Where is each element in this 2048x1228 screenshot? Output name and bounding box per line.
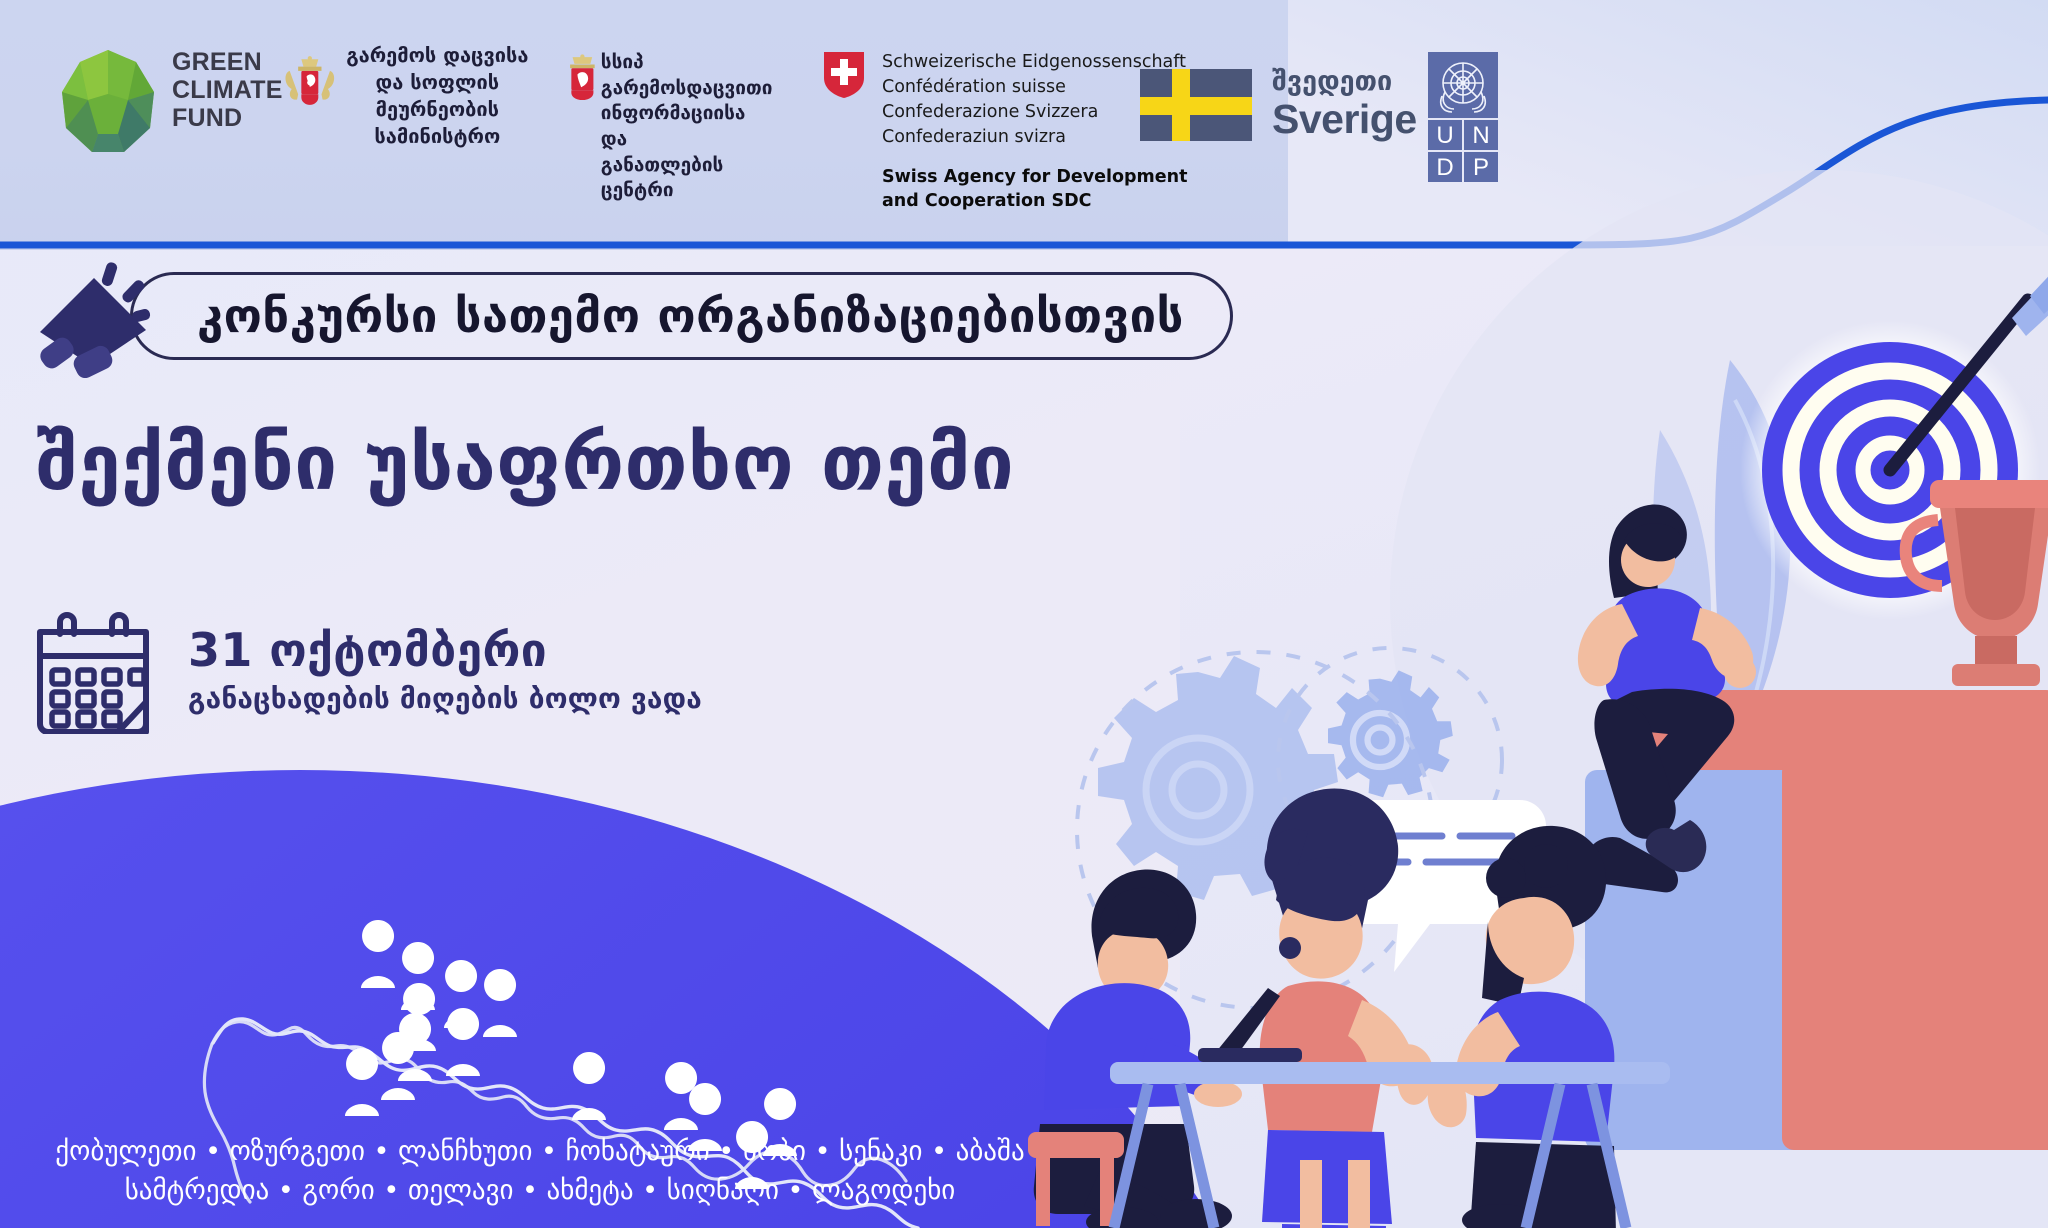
deadline-date: 31 ოქტომბერი [188, 626, 702, 674]
gcf-line-3: FUND [172, 104, 283, 132]
swiss-shield-icon [822, 50, 866, 98]
neac-caption-line-3: განათლების ცენტრი [601, 153, 775, 204]
svg-text:P: P [1473, 154, 1489, 181]
gem-icon [58, 48, 158, 156]
sweden-wordmark: შვედეთი Sverige [1272, 68, 1417, 141]
logo-sweden: შვედეთი Sverige [1140, 68, 1417, 141]
megaphone-icon [32, 258, 160, 378]
deadline-block: 31 ოქტომბერი განაცხადების მიღების ბოლო ვ… [30, 608, 702, 734]
logo-swiss-sdc: Schweizerische Eidgenossenschaft Confédé… [822, 50, 1187, 213]
page-title: შექმენი უსაფრთხო თემი [36, 418, 1014, 507]
logo-ministry-of-environment: გარემოს დაცვისა და სოფლის მეურნეობის სამ… [278, 42, 533, 150]
ministry-caption-line-2: მეურნეობის სამინისტრო [342, 96, 533, 150]
sweden-label-ka: შვედეთი [1272, 68, 1417, 95]
sweden-flag-icon [1140, 69, 1252, 141]
georgia-coat-of-arms-icon [278, 42, 342, 120]
banner-title: კონკურსი სათემო ორგანიზაციებისთვის [197, 289, 1184, 344]
svg-text:N: N [1472, 122, 1489, 149]
deadline-text: 31 ოქტომბერი განაცხადების მიღების ბოლო ვ… [188, 608, 702, 715]
ministry-caption: გარემოს დაცვისა და სოფლის მეურნეობის სამ… [342, 42, 533, 150]
georgia-small-crest-icon [564, 50, 601, 106]
svg-text:D: D [1436, 154, 1453, 181]
team-meeting-illustration [1028, 789, 1670, 1228]
gcf-wordmark: GREEN CLIMATE FUND [172, 48, 283, 132]
undp-emblem-icon: U N D P [1428, 52, 1498, 182]
sdc-bold-line-2: and Cooperation SDC [882, 190, 1187, 213]
calendar-icon [30, 608, 156, 734]
poster-canvas: GREEN CLIMATE FUND გარემოს დაცვისა და სო… [0, 0, 2048, 1228]
logo-undp: U N D P [1428, 52, 1498, 182]
municipality-line-2: სამტრედია • გორი • თელავი • ახმეტა • სიღ… [0, 1171, 1080, 1210]
sdc-bold-line-1: Swiss Agency for Development [882, 166, 1187, 189]
neac-caption: სსიპ გარემოსდაცვითი ინფორმაციისა და განა… [601, 50, 775, 204]
deadline-note: განაცხადების მიღების ბოლო ვადა [188, 682, 702, 715]
neac-caption-line-1: სსიპ გარემოსდაცვითი [601, 50, 775, 101]
banner-pill: კონკურსი სათემო ორგანიზაციებისთვის [130, 272, 1233, 360]
sweden-label-en: Sverige [1272, 98, 1417, 141]
podium-step-3 [1782, 760, 2048, 1150]
gcf-line-1: GREEN [172, 48, 283, 76]
logo-green-climate-fund: GREEN CLIMATE FUND [58, 48, 283, 156]
svg-text:U: U [1436, 122, 1453, 149]
municipality-list: ქობულეთი • ოზურგეთი • ლანჩხუთი • ჩოხატაუ… [0, 1132, 1080, 1210]
gcf-line-2: CLIMATE [172, 76, 283, 104]
municipality-line-1: ქობულეთი • ოზურგეთი • ლანჩხუთი • ჩოხატაუ… [0, 1132, 1080, 1171]
neac-caption-line-2: ინფორმაციისა და [601, 101, 775, 152]
logo-environment-info-center: სსიპ გარემოსდაცვითი ინფორმაციისა და განა… [560, 50, 775, 204]
ministry-caption-line-1: გარემოს დაცვისა და სოფლის [342, 42, 533, 96]
partner-logos: GREEN CLIMATE FUND გარემოს დაცვისა და სო… [0, 0, 2048, 250]
